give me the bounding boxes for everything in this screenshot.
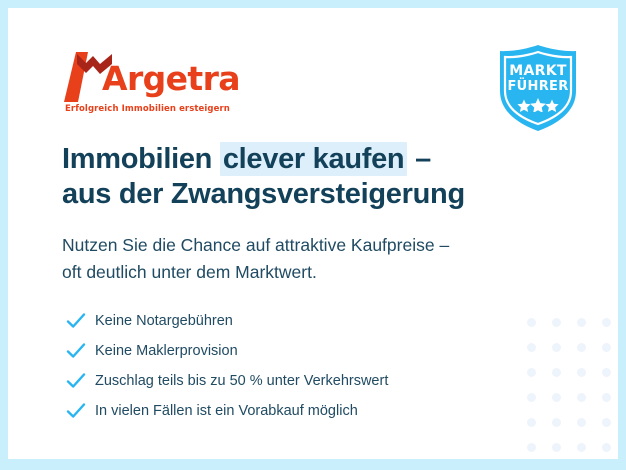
benefits-list: Keine NotargebührenKeine Maklerprovision… (65, 306, 525, 426)
promo-banner: Argetra Erfolgreich Immobilien ersteiger… (0, 0, 626, 470)
check-icon (65, 340, 95, 362)
subtitle-line-2: oft deutlich unter dem Marktwert. (62, 259, 542, 286)
headline-highlight: clever kaufen (220, 142, 408, 176)
grid-dot (577, 318, 586, 327)
grid-dot (552, 443, 561, 452)
headline-pre: Immobilien (62, 143, 220, 175)
page-title: Immobilien clever kaufen – aus der Zwang… (62, 142, 532, 212)
logo-tagline: Erfolgreich Immobilien ersteigern (65, 104, 230, 114)
grid-dot (527, 368, 536, 377)
grid-dot (602, 443, 611, 452)
check-icon (65, 310, 95, 332)
grid-dot (602, 418, 611, 427)
grid-dot (577, 443, 586, 452)
grid-dot (602, 368, 611, 377)
headline-line-1: Immobilien clever kaufen – (62, 142, 532, 177)
grid-dot (552, 368, 561, 377)
list-item: Keine Maklerprovision (65, 336, 525, 366)
grid-dot (577, 343, 586, 352)
list-item: In vielen Fällen ist ein Vorabkauf mögli… (65, 396, 525, 426)
grid-dot (577, 418, 586, 427)
grid-dot (552, 418, 561, 427)
headline-line-2: aus der Zwangsversteigerung (62, 177, 532, 212)
page-subtitle: Nutzen Sie die Chance auf attraktive Kau… (62, 232, 542, 286)
list-item-label: Zuschlag teils bis zu 50 % unter Verkehr… (95, 370, 388, 392)
grid-dot (602, 318, 611, 327)
promo-card: Argetra Erfolgreich Immobilien ersteiger… (8, 8, 618, 459)
grid-dot (602, 343, 611, 352)
logo-wordmark: Argetra (102, 59, 240, 98)
dot-grid-decoration (523, 310, 618, 459)
list-item: Keine Notargebühren (65, 306, 525, 336)
grid-dot (527, 318, 536, 327)
argetra-logo[interactable]: Argetra Erfolgreich Immobilien ersteiger… (62, 52, 252, 114)
list-item: Zuschlag teils bis zu 50 % unter Verkehr… (65, 366, 525, 396)
grid-dot (527, 393, 536, 402)
headline-post: – (407, 143, 431, 175)
list-item-label: Keine Notargebühren (95, 310, 233, 332)
list-item-label: Keine Maklerprovision (95, 340, 238, 362)
shield-badge-icon (495, 44, 581, 132)
grid-dot (602, 393, 611, 402)
grid-dot (577, 393, 586, 402)
grid-dot (527, 418, 536, 427)
subtitle-line-1: Nutzen Sie die Chance auf attraktive Kau… (62, 232, 542, 259)
grid-dot (527, 443, 536, 452)
check-icon (65, 370, 95, 392)
grid-dot (552, 343, 561, 352)
grid-dot (527, 343, 536, 352)
check-icon (65, 400, 95, 422)
marktfuehrer-badge: MARKT FÜHRER (495, 44, 581, 132)
grid-dot (577, 368, 586, 377)
grid-dot (552, 318, 561, 327)
grid-dot (552, 393, 561, 402)
list-item-label: In vielen Fällen ist ein Vorabkauf mögli… (95, 400, 358, 422)
